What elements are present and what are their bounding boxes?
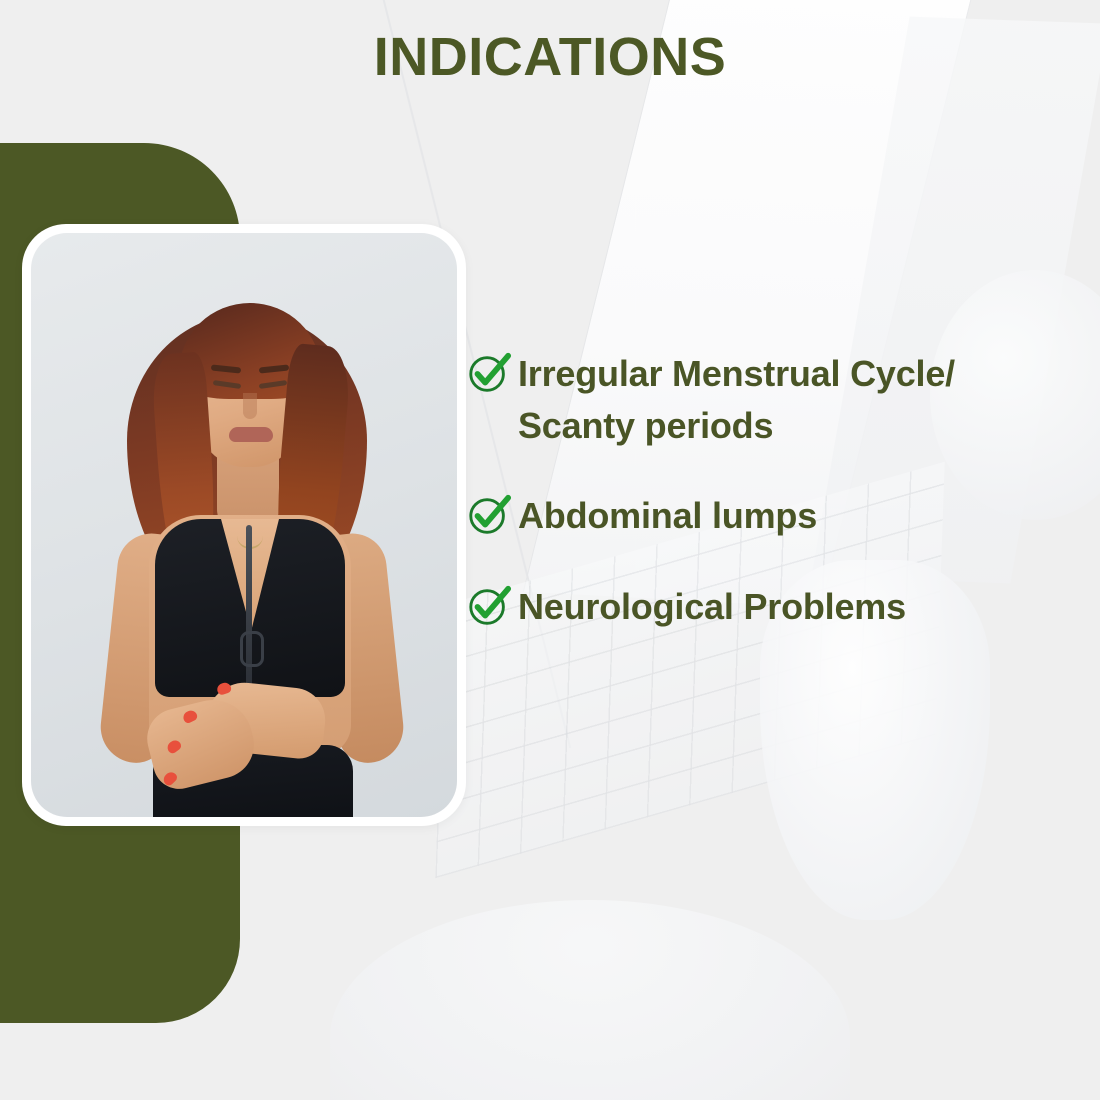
figure-zipper-pull: [240, 631, 264, 667]
check-circle-icon: [466, 492, 512, 538]
figure-mouth: [229, 427, 273, 442]
list-item-label: Irregular Menstrual Cycle/ Scanty period…: [518, 348, 1066, 452]
ghost-object-c: [330, 900, 850, 1100]
patient-photo: [31, 233, 457, 817]
figure-zipper: [246, 525, 252, 693]
list-item-label: Neurological Problems: [518, 581, 906, 633]
list-item: Neurological Problems: [466, 581, 1066, 633]
indications-list: Irregular Menstrual Cycle/ Scanty period…: [466, 348, 1066, 633]
photo-card: [22, 224, 466, 826]
indications-poster: INDICATIONS: [0, 0, 1100, 1100]
list-item-label: Abdominal lumps: [518, 490, 817, 542]
page-title: INDICATIONS: [0, 26, 1100, 88]
check-circle-icon: [466, 350, 512, 396]
figure-nose: [243, 393, 257, 419]
list-item: Irregular Menstrual Cycle/ Scanty period…: [466, 348, 1066, 452]
list-item: Abdominal lumps: [466, 490, 1066, 542]
check-circle-icon: [466, 583, 512, 629]
